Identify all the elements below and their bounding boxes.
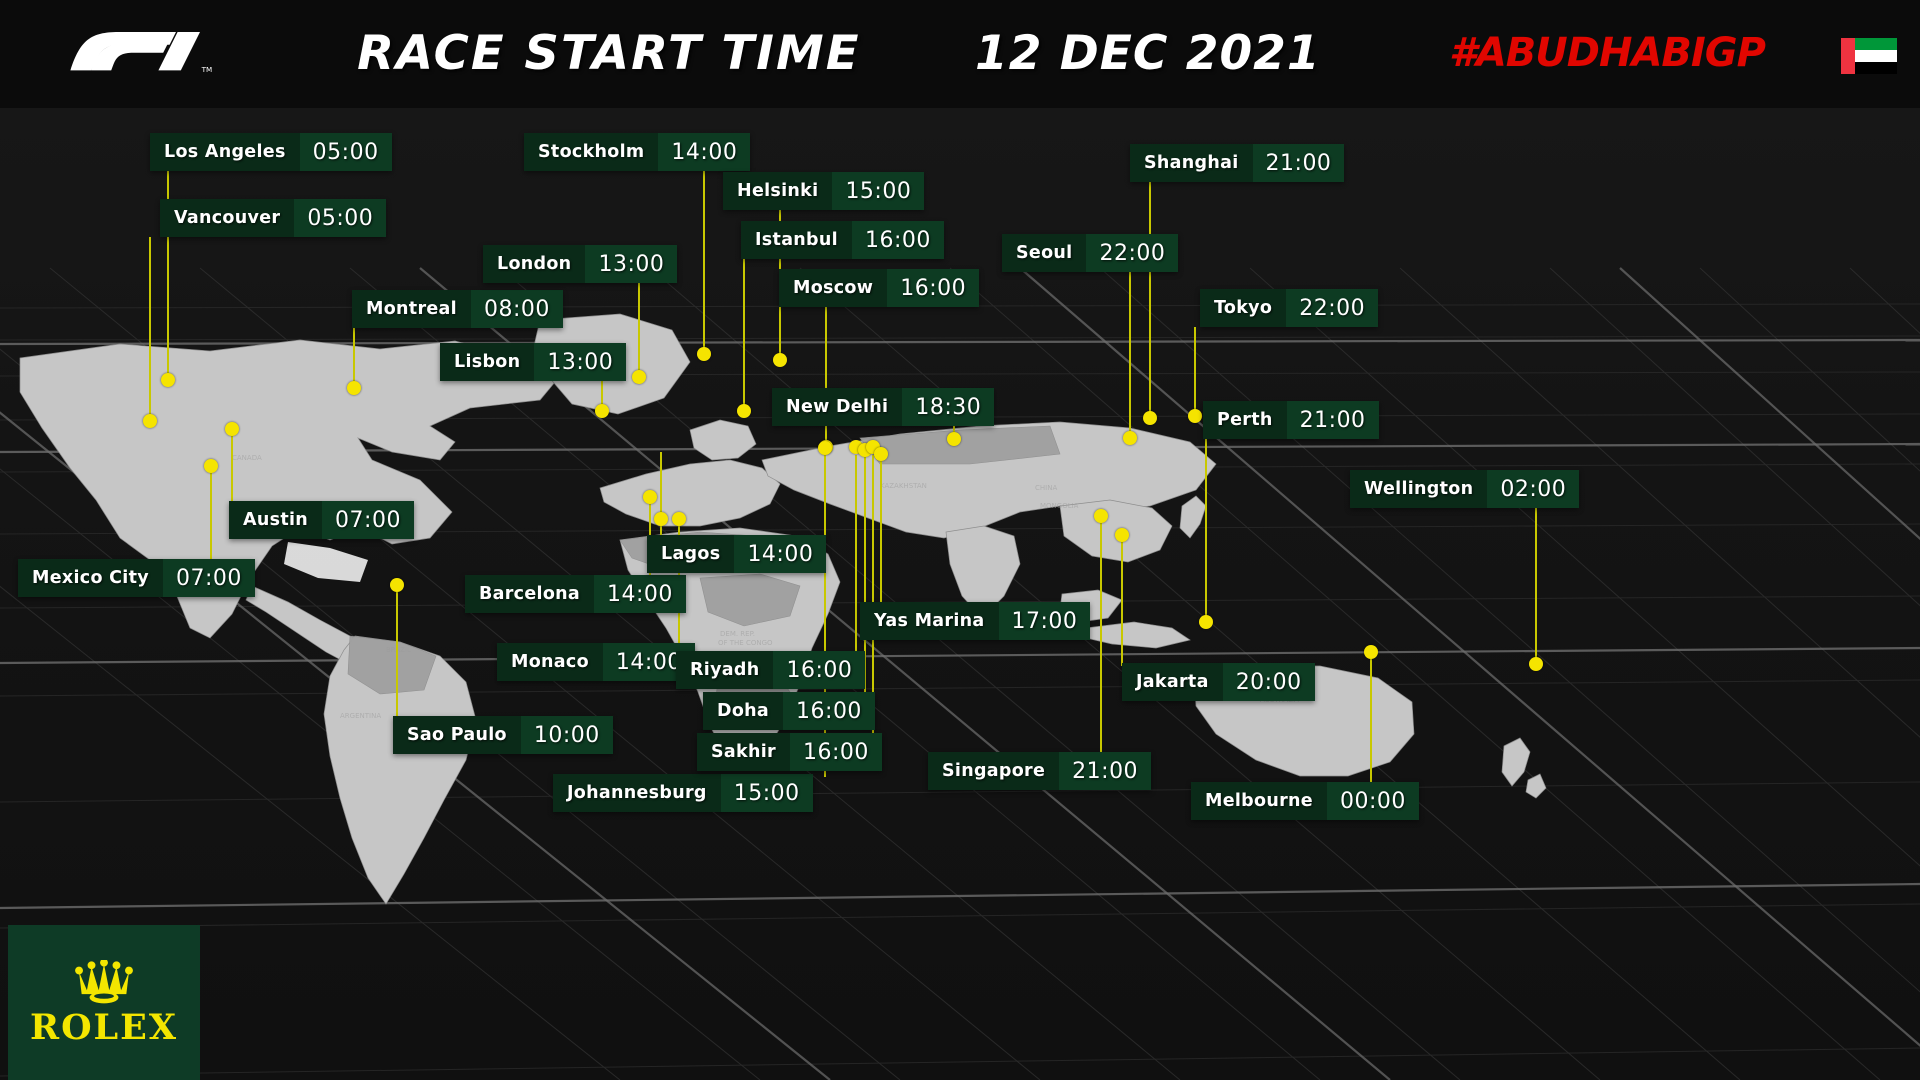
- city-label-austin[interactable]: Austin07:00: [229, 501, 414, 539]
- city-name-stockholm: Stockholm: [524, 133, 658, 171]
- city-time-helsinki: 15:00: [832, 172, 924, 210]
- city-label-barcelona[interactable]: Barcelona14:00: [465, 575, 686, 613]
- event-hashtag: #ABUDHABIGP: [1449, 30, 1765, 76]
- header-bar: TM RACE START TIME 12 DEC 2021 #ABUDHABI…: [0, 0, 1920, 108]
- city-label-tokyo[interactable]: Tokyo22:00: [1200, 289, 1378, 327]
- city-label-stockholm[interactable]: Stockholm14:00: [524, 133, 750, 171]
- city-label-vancouver[interactable]: Vancouver05:00: [160, 199, 386, 237]
- flag-green-stripe: [1855, 38, 1897, 50]
- city-label-monaco[interactable]: Monaco14:00: [497, 643, 695, 681]
- flag-red-bar: [1841, 38, 1855, 74]
- city-name-london: London: [483, 245, 585, 283]
- city-time-new-delhi: 18:30: [902, 388, 994, 426]
- city-name-tokyo: Tokyo: [1200, 289, 1286, 327]
- city-time-austin: 07:00: [322, 501, 414, 539]
- city-time-doha: 16:00: [783, 692, 875, 730]
- city-label-seoul[interactable]: Seoul22:00: [1002, 234, 1178, 272]
- city-label-johannesburg[interactable]: Johannesburg15:00: [553, 774, 813, 812]
- svg-text:CHINA: CHINA: [1035, 484, 1057, 492]
- city-time-istanbul: 16:00: [852, 221, 944, 259]
- city-time-melbourne: 00:00: [1327, 782, 1419, 820]
- city-label-new-delhi[interactable]: New Delhi18:30: [772, 388, 994, 426]
- city-name-barcelona: Barcelona: [465, 575, 594, 613]
- city-name-doha: Doha: [703, 692, 783, 730]
- city-name-helsinki: Helsinki: [723, 172, 832, 210]
- city-label-shanghai[interactable]: Shanghai21:00: [1130, 144, 1344, 182]
- uae-flag-icon: [1841, 38, 1897, 74]
- city-name-austin: Austin: [229, 501, 322, 539]
- city-name-yas-marina: Yas Marina: [860, 602, 999, 640]
- flag-stripes: [1855, 38, 1897, 74]
- city-time-jakarta: 20:00: [1223, 663, 1315, 701]
- city-name-lagos: Lagos: [647, 535, 734, 573]
- city-time-lagos: 14:00: [734, 535, 826, 573]
- city-label-moscow[interactable]: Moscow16:00: [779, 269, 979, 307]
- city-label-sakhir[interactable]: Sakhir16:00: [697, 733, 882, 771]
- svg-text:TM: TM: [201, 65, 213, 74]
- city-label-jakarta[interactable]: Jakarta20:00: [1122, 663, 1315, 701]
- svg-text:OF THE CONGO: OF THE CONGO: [718, 639, 773, 647]
- flag-white-stripe: [1855, 50, 1897, 62]
- city-time-riyadh: 16:00: [773, 651, 865, 689]
- city-label-lagos[interactable]: Lagos14:00: [647, 535, 826, 573]
- city-label-yas-marina[interactable]: Yas Marina17:00: [860, 602, 1090, 640]
- world-map: KAZAKHSTAN CHINA CANADA USA BRAZIL ARGEN…: [0, 108, 1920, 1080]
- city-name-istanbul: Istanbul: [741, 221, 852, 259]
- city-name-melbourne: Melbourne: [1191, 782, 1327, 820]
- city-time-vancouver: 05:00: [294, 199, 386, 237]
- city-time-london: 13:00: [585, 245, 677, 283]
- city-name-los-angeles: Los Angeles: [150, 133, 300, 171]
- city-name-perth: Perth: [1203, 401, 1287, 439]
- race-date: 12 DEC 2021: [975, 26, 1321, 81]
- page-title: RACE START TIME: [357, 26, 861, 81]
- city-time-johannesburg: 15:00: [721, 774, 813, 812]
- city-name-shanghai: Shanghai: [1130, 144, 1253, 182]
- city-time-singapore: 21:00: [1059, 752, 1151, 790]
- city-label-perth[interactable]: Perth21:00: [1203, 401, 1379, 439]
- svg-text:DEM. REP.: DEM. REP.: [720, 630, 755, 638]
- city-time-sakhir: 16:00: [790, 733, 882, 771]
- city-label-helsinki[interactable]: Helsinki15:00: [723, 172, 924, 210]
- city-name-new-delhi: New Delhi: [772, 388, 902, 426]
- city-label-wellington[interactable]: Wellington02:00: [1350, 470, 1579, 508]
- city-label-london[interactable]: London13:00: [483, 245, 677, 283]
- city-name-johannesburg: Johannesburg: [553, 774, 721, 812]
- city-label-los-angeles[interactable]: Los Angeles05:00: [150, 133, 392, 171]
- city-time-tokyo: 22:00: [1286, 289, 1378, 327]
- city-name-seoul: Seoul: [1002, 234, 1086, 272]
- rolex-sponsor-logo: ROLEX: [8, 925, 200, 1080]
- svg-text:MONGOLIA: MONGOLIA: [1040, 502, 1079, 510]
- city-label-mexico-city[interactable]: Mexico City07:00: [18, 559, 255, 597]
- city-time-barcelona: 14:00: [594, 575, 686, 613]
- city-name-sakhir: Sakhir: [697, 733, 790, 771]
- city-label-lisbon[interactable]: Lisbon13:00: [440, 343, 626, 381]
- city-name-sao-paulo: Sao Paulo: [393, 716, 521, 754]
- city-name-moscow: Moscow: [779, 269, 887, 307]
- city-label-istanbul[interactable]: Istanbul16:00: [741, 221, 944, 259]
- city-time-moscow: 16:00: [887, 269, 979, 307]
- city-name-lisbon: Lisbon: [440, 343, 534, 381]
- city-time-yas-marina: 17:00: [999, 602, 1091, 640]
- city-name-jakarta: Jakarta: [1122, 663, 1223, 701]
- svg-text:CANADA: CANADA: [232, 454, 262, 462]
- svg-text:BRAZIL: BRAZIL: [386, 646, 411, 654]
- city-time-los-angeles: 05:00: [300, 133, 392, 171]
- city-time-stockholm: 14:00: [658, 133, 750, 171]
- city-name-montreal: Montreal: [352, 290, 471, 328]
- city-label-riyadh[interactable]: Riyadh16:00: [676, 651, 865, 689]
- city-name-vancouver: Vancouver: [160, 199, 294, 237]
- city-time-seoul: 22:00: [1086, 234, 1178, 272]
- city-time-sao-paulo: 10:00: [521, 716, 613, 754]
- city-time-montreal: 08:00: [471, 290, 563, 328]
- rolex-crown-icon: [71, 960, 137, 1006]
- city-name-monaco: Monaco: [497, 643, 603, 681]
- city-name-mexico-city: Mexico City: [18, 559, 163, 597]
- city-label-doha[interactable]: Doha16:00: [703, 692, 875, 730]
- city-time-perth: 21:00: [1287, 401, 1379, 439]
- city-time-wellington: 02:00: [1487, 470, 1579, 508]
- city-label-sao-paulo[interactable]: Sao Paulo10:00: [393, 716, 613, 754]
- city-time-lisbon: 13:00: [534, 343, 626, 381]
- svg-text:KAZAKHSTAN: KAZAKHSTAN: [880, 482, 927, 490]
- rolex-wordmark: ROLEX: [30, 1010, 178, 1045]
- svg-text:ARGENTINA: ARGENTINA: [340, 712, 381, 720]
- infographic-stage: KAZAKHSTAN CHINA CANADA USA BRAZIL ARGEN…: [0, 0, 1920, 1080]
- city-label-melbourne[interactable]: Melbourne00:00: [1191, 782, 1419, 820]
- city-time-shanghai: 21:00: [1253, 144, 1345, 182]
- city-name-singapore: Singapore: [928, 752, 1059, 790]
- city-time-mexico-city: 07:00: [163, 559, 255, 597]
- city-name-wellington: Wellington: [1350, 470, 1487, 508]
- f1-logo: TM: [56, 24, 216, 80]
- city-label-montreal[interactable]: Montreal08:00: [352, 290, 563, 328]
- flag-black-stripe: [1855, 62, 1897, 74]
- world-map-svg: KAZAKHSTAN CHINA CANADA USA BRAZIL ARGEN…: [0, 108, 1920, 1080]
- city-name-riyadh: Riyadh: [676, 651, 773, 689]
- city-label-singapore[interactable]: Singapore21:00: [928, 752, 1151, 790]
